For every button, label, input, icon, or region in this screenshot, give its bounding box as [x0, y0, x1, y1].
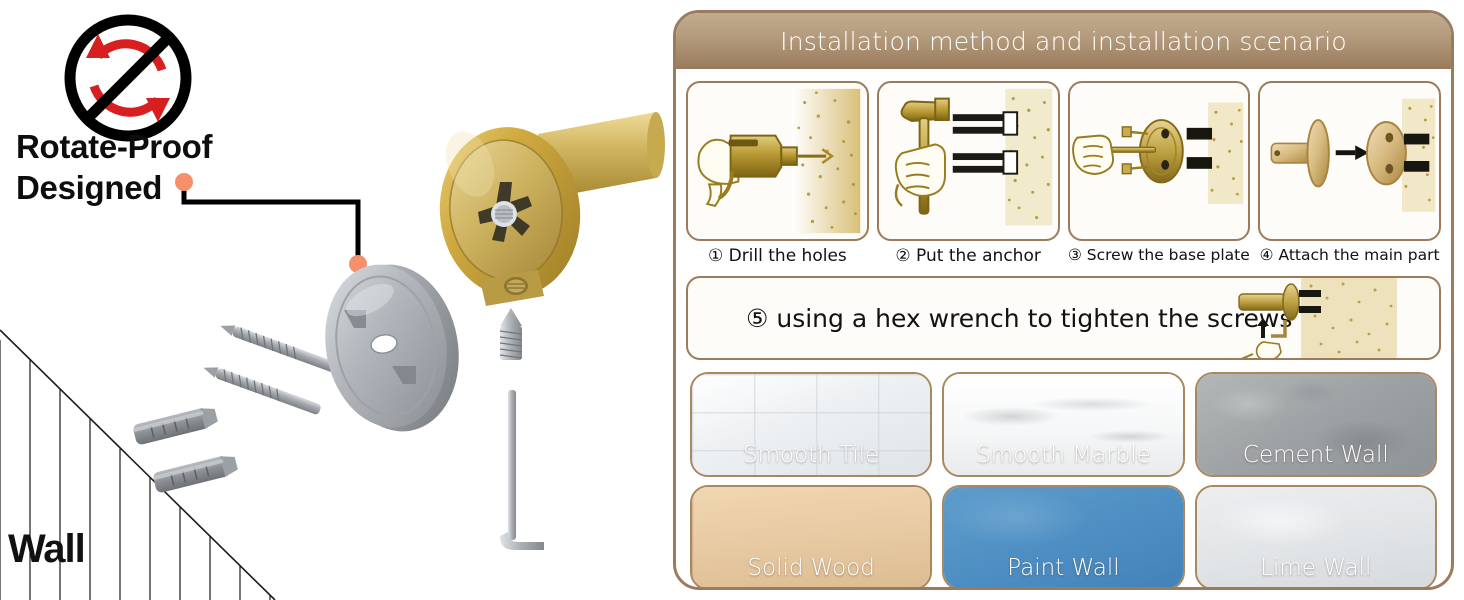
wall-label: Wall: [8, 527, 85, 572]
surface-label-smooth-marble: Smooth Marble: [976, 442, 1151, 475]
panel-header: Installation method and installation sce…: [676, 13, 1451, 69]
step-item-1: ① Drill the holes: [686, 81, 869, 266]
surface-tile-cement-wall: Cement Wall: [1195, 372, 1437, 477]
installation-panel: Installation method and installation sce…: [673, 10, 1454, 590]
rotate-proof-line2: Designed: [16, 167, 256, 208]
step-caption-5: ⑤ using a hex wrench to tighten the scre…: [746, 304, 1292, 333]
installation-steps-row: ① Drill the holes: [676, 69, 1451, 266]
hammer-icon: [877, 81, 1060, 241]
product-infographic: Rotate-Proof Designed: [0, 0, 1464, 600]
surface-label-cement-wall: Cement Wall: [1243, 442, 1389, 475]
surface-types-grid: Smooth Tile Smooth Marble Cement Wall So…: [676, 372, 1451, 590]
step-item-2: ② Put the anchor: [877, 81, 1060, 266]
surface-tile-smooth-tile: Smooth Tile: [690, 372, 932, 477]
left-product-panel: Rotate-Proof Designed: [0, 0, 660, 600]
step-item-4: ④ Attach the main part: [1258, 81, 1441, 266]
step-item-3: ③ Screw the base plate: [1068, 81, 1251, 266]
surface-tile-solid-wood: Solid Wood: [690, 485, 932, 590]
gold-flange-cover: [418, 104, 668, 319]
hex-wrench-icon: [1233, 278, 1439, 358]
rotate-proof-line1: Rotate-Proof: [16, 126, 256, 167]
attach-icon: [1258, 81, 1441, 241]
surface-label-lime-wall: Lime Wall: [1260, 555, 1371, 588]
step-item-5: ⑤ using a hex wrench to tighten the scre…: [686, 276, 1441, 360]
page-title: Rotate-Proof Designed: [16, 126, 256, 209]
step-caption-2: ② Put the anchor: [895, 246, 1040, 266]
surface-label-smooth-tile: Smooth Tile: [743, 442, 879, 475]
step-caption-1: ① Drill the holes: [708, 246, 847, 266]
panel-title: Installation method and installation sce…: [780, 27, 1347, 56]
surface-tile-smooth-marble: Smooth Marble: [942, 372, 1184, 477]
screwdriver-icon: [1068, 81, 1251, 241]
drill-icon: [686, 81, 869, 241]
surface-tile-paint-wall: Paint Wall: [942, 485, 1184, 590]
surface-label-solid-wood: Solid Wood: [747, 555, 875, 588]
surface-label-paint-wall: Paint Wall: [1007, 555, 1119, 588]
set-screw: [492, 306, 530, 368]
surface-tile-lime-wall: Lime Wall: [1195, 485, 1437, 590]
step-caption-3: ③ Screw the base plate: [1068, 246, 1250, 264]
hex-key-wrench: [486, 388, 556, 568]
step-caption-4: ④ Attach the main part: [1260, 246, 1440, 264]
